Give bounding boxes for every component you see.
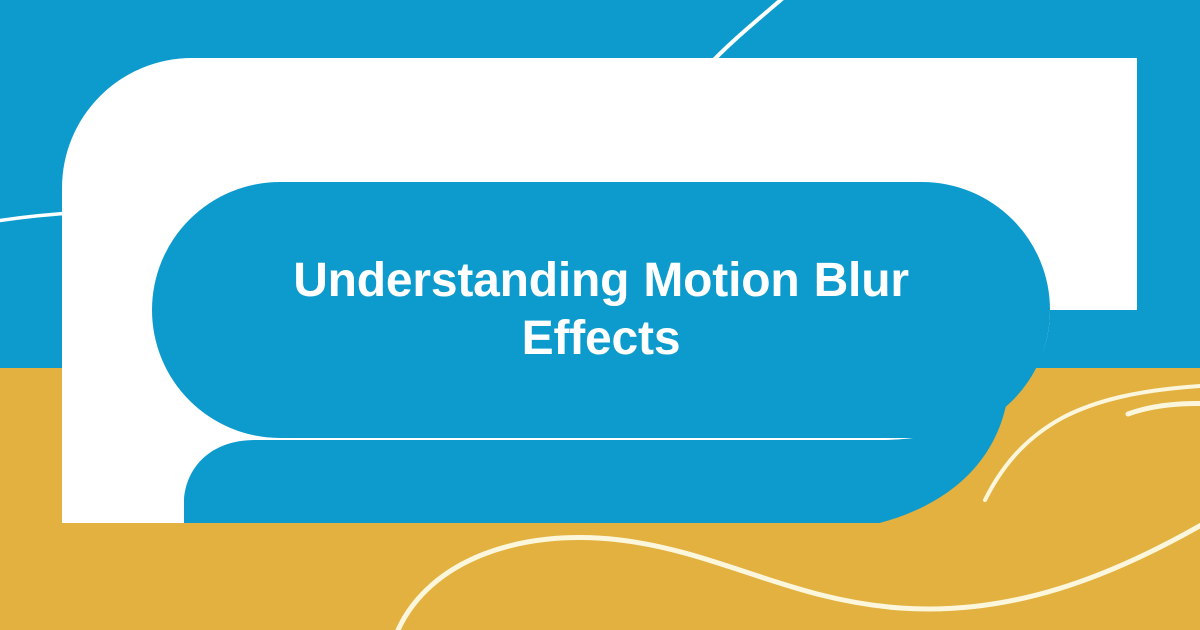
page-title: Understanding Motion Blur Effects [256,252,946,367]
feature-card-canvas: Understanding Motion Blur Effects [0,0,1200,630]
blue-title-pill: Understanding Motion Blur Effects [152,182,1050,438]
